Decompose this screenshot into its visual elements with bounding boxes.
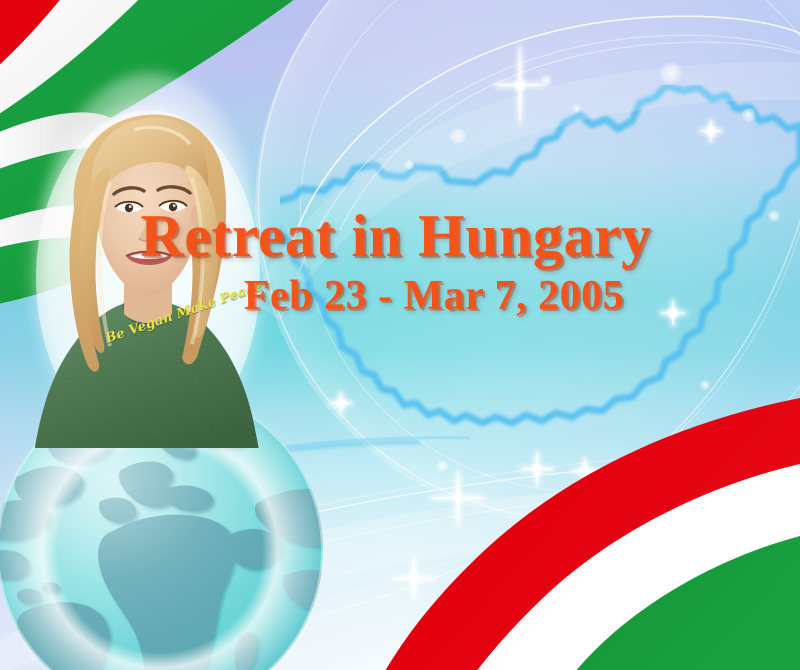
poster-canvas: Be Vegan Make Peace Retreat in Hungary F… [0,0,800,670]
event-dates: Feb 23 - Mar 7, 2005 [0,273,780,319]
page-title: Retreat in Hungary [0,206,780,267]
title-block: Retreat in Hungary Feb 23 - Mar 7, 2005 [0,206,800,319]
hungary-flag-ribbon-icon [370,390,800,670]
